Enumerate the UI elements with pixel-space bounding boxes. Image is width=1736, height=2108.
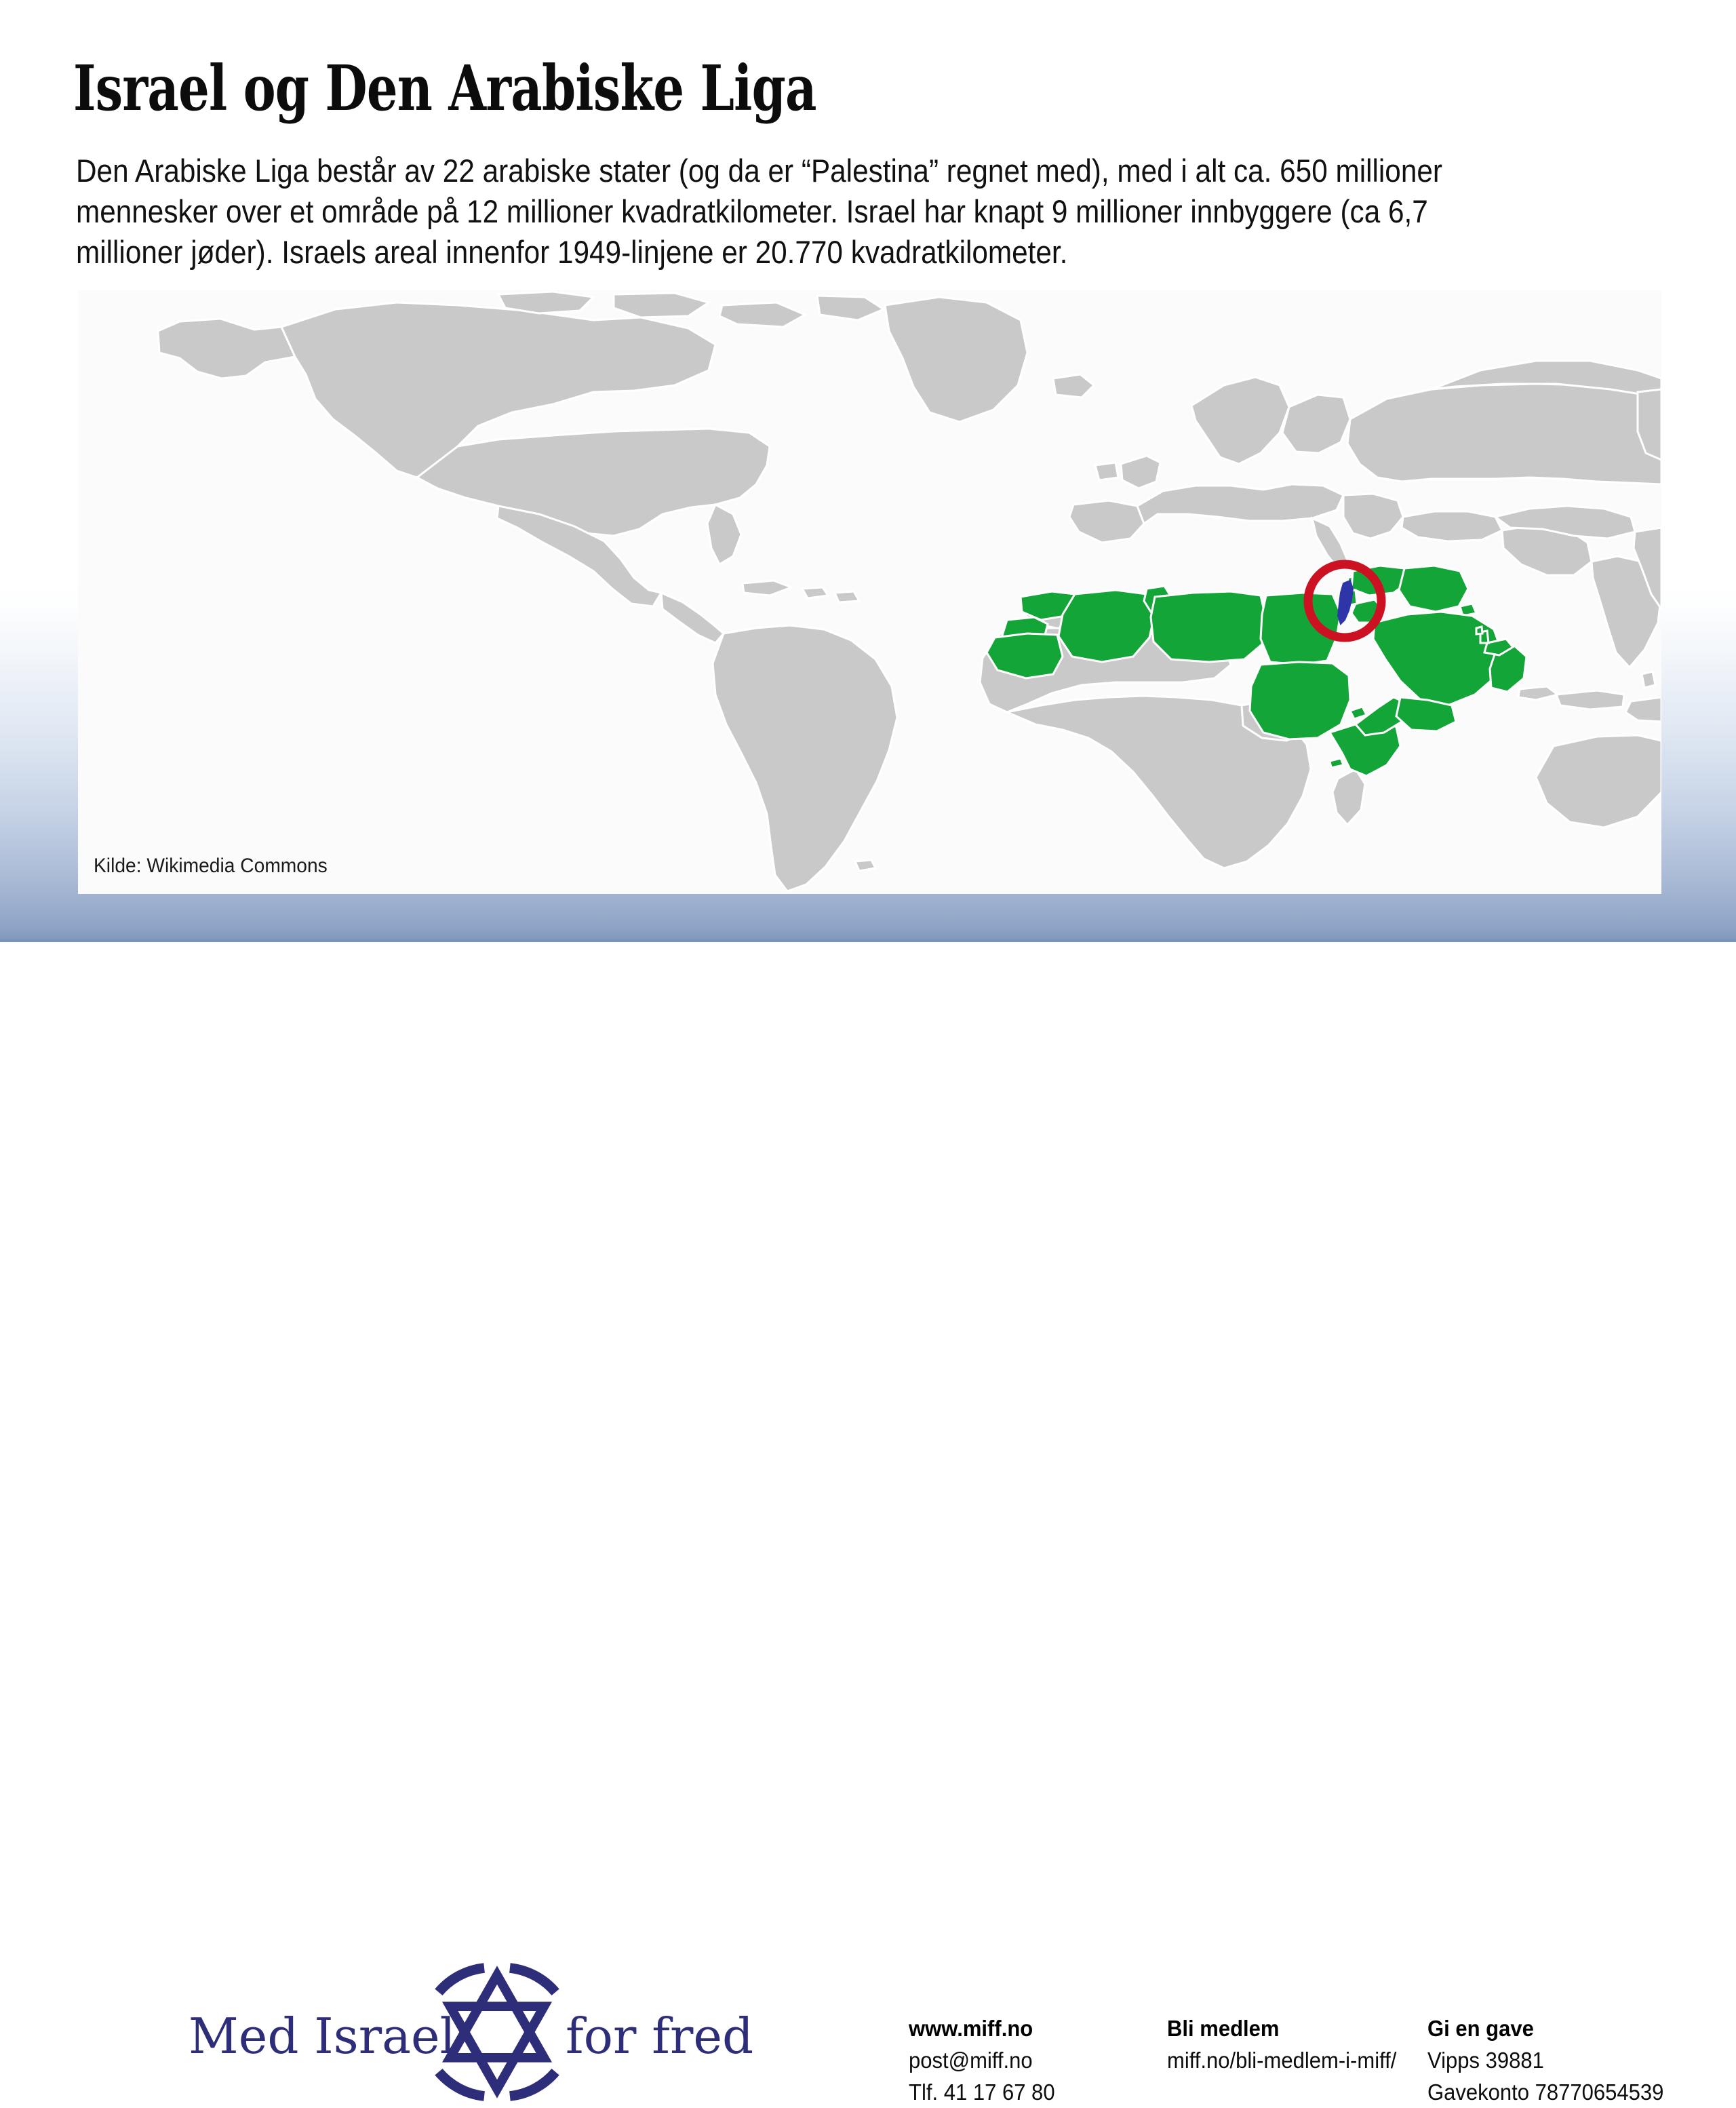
page-title: Israel og Den Arabiske Liga — [73, 56, 816, 121]
map-source-caption: Kilde: Wikimedia Commons — [94, 855, 328, 878]
miff-logo[interactable]: Med Israel for fred — [189, 1973, 751, 2102]
map-panel: Kilde: Wikimedia Commons — [78, 290, 1661, 894]
logo-text-right: for fred — [566, 1999, 753, 2073]
contact-heading-donation: Gi en gave — [1427, 2012, 1663, 2044]
contact-phone: Tlf. 41 17 67 80 — [909, 2076, 1055, 2108]
world-map — [78, 290, 1661, 894]
vipps-number: Vipps 39881 — [1427, 2044, 1663, 2076]
contact-heading-web[interactable]: www.miff.no — [909, 2012, 1055, 2044]
contact-email[interactable]: post@miff.no — [909, 2044, 1055, 2076]
contact-heading-membership: Bli medlem — [1167, 2012, 1396, 2044]
footer: Med Israel for fred www.miff.no post@mif… — [0, 942, 1736, 1228]
logo-text-left: Med Israel — [189, 1999, 456, 2073]
contact-column-donation: Gi en gave Vipps 39881 Gavekonto 7877065… — [1427, 2012, 1679, 2108]
bank-account-number: Gavekonto 78770654539 — [1427, 2076, 1663, 2108]
contact-column-web: www.miff.no post@miff.no Tlf. 41 17 67 8… — [909, 2012, 1064, 2108]
star-of-david-icon — [426, 1961, 568, 2103]
intro-paragraph: Den Arabiske Liga består av 22 arabiske … — [76, 151, 1516, 273]
contact-column-membership: Bli medlem miff.no/bli-medlem-i-miff/ — [1167, 2012, 1411, 2076]
membership-url[interactable]: miff.no/bli-medlem-i-miff/ — [1167, 2044, 1396, 2076]
